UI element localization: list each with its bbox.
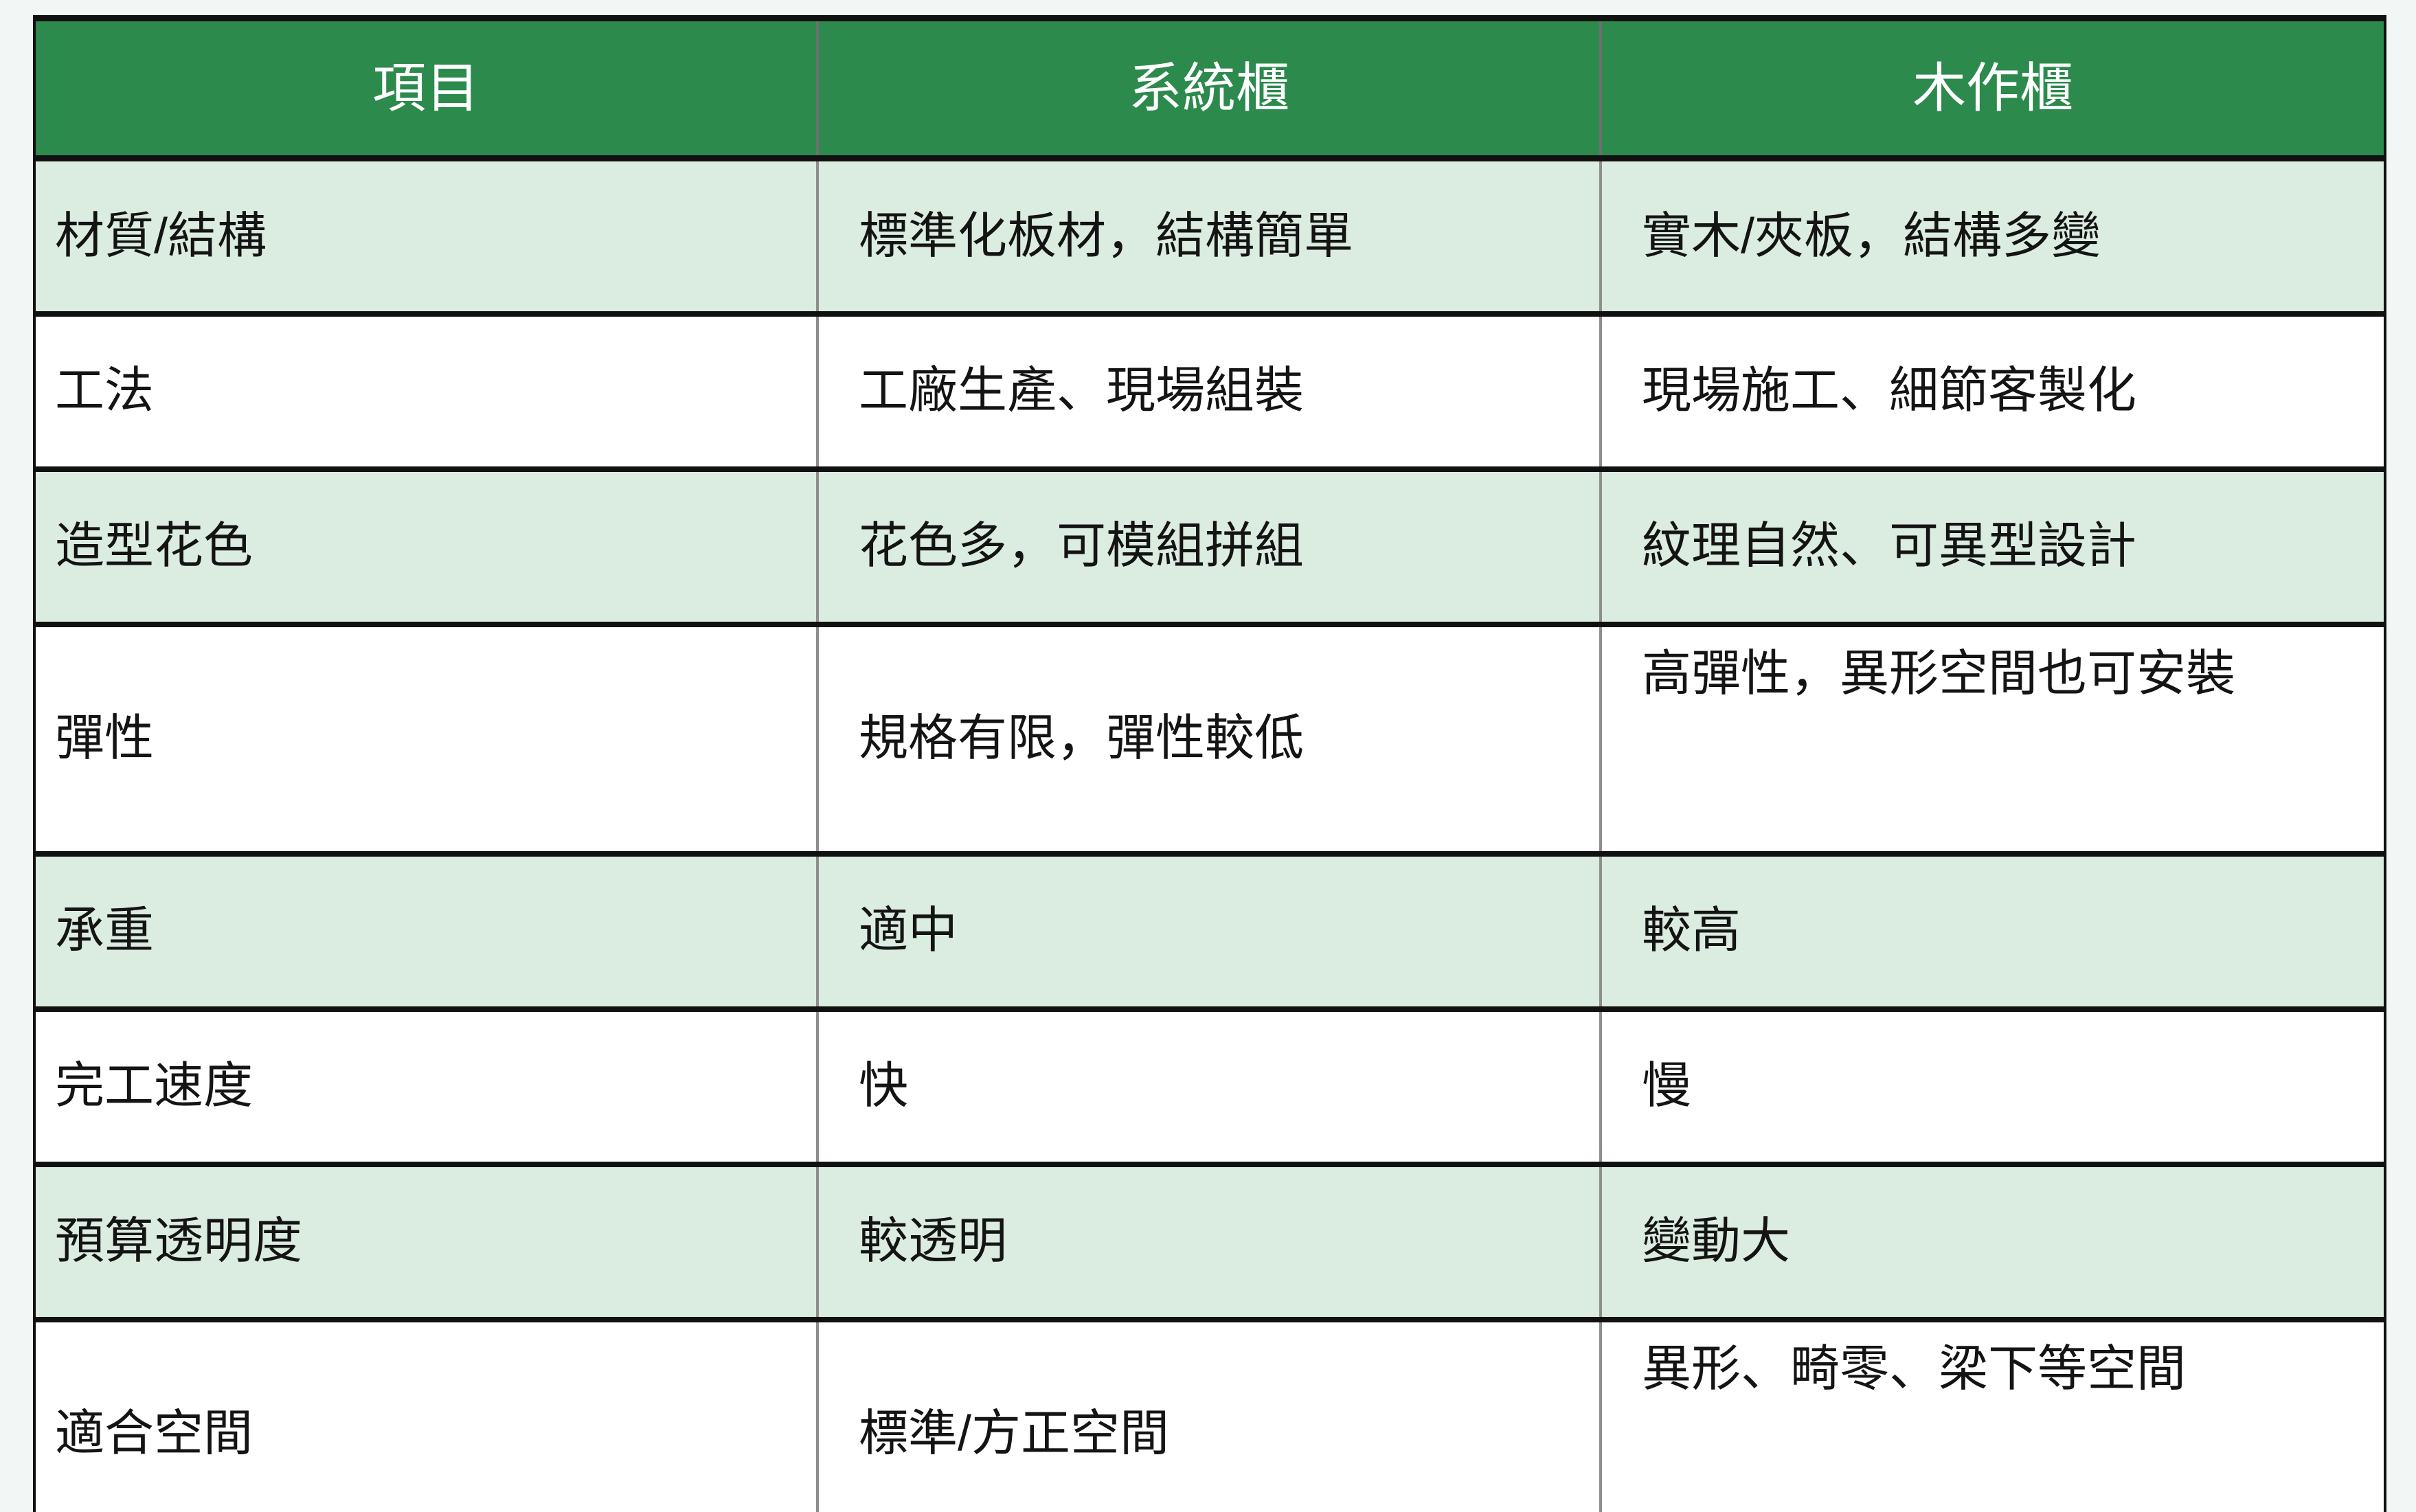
cell-system: 規格有限，彈性較低	[817, 624, 1601, 854]
table-row: 彈性 規格有限，彈性較低 高彈性，異形空間也可安裝	[34, 624, 2385, 854]
table-row: 材質/結構 標準化板材，結構簡單 實木/夾板，結構多變	[34, 159, 2385, 314]
cell-system: 快	[817, 1009, 1601, 1164]
header-row: 項目 系統櫃 木作櫃	[34, 19, 2385, 159]
column-header-wood: 木作櫃	[1601, 19, 2385, 159]
cell-system: 標準/方正空間	[817, 1320, 1601, 1512]
cell-item: 材質/結構	[34, 159, 817, 314]
cell-wood: 較高	[1601, 854, 2385, 1009]
cell-system: 花色多，可模組拼組	[817, 469, 1601, 624]
column-header-item: 項目	[34, 19, 817, 159]
table-header: 項目 系統櫃 木作櫃	[34, 19, 2385, 159]
table-row: 預算透明度 較透明 變動大	[34, 1164, 2385, 1320]
cell-system: 適中	[817, 854, 1601, 1009]
cell-item: 造型花色	[34, 469, 817, 624]
cell-item: 工法	[34, 314, 817, 469]
cell-item: 預算透明度	[34, 1164, 817, 1320]
comparison-table-container: 項目 系統櫃 木作櫃 材質/結構 標準化板材，結構簡單 實木/夾板，結構多變 工…	[33, 15, 2384, 1512]
cell-item: 適合空間	[34, 1320, 817, 1512]
table-body: 材質/結構 標準化板材，結構簡單 實木/夾板，結構多變 工法 工廠生產、現場組裝…	[34, 159, 2385, 1512]
table-row: 承重 適中 較高	[34, 854, 2385, 1009]
table-row: 適合空間 標準/方正空間 異形、畸零、梁下等空間	[34, 1320, 2385, 1512]
cell-system: 較透明	[817, 1164, 1601, 1320]
cell-item: 完工速度	[34, 1009, 817, 1164]
cell-wood: 變動大	[1601, 1164, 2385, 1320]
cell-wood: 現場施工、細節客製化	[1601, 314, 2385, 469]
cell-wood: 慢	[1601, 1009, 2385, 1164]
cell-wood: 高彈性，異形空間也可安裝	[1601, 624, 2385, 854]
page-root: 項目 系統櫃 木作櫃 材質/結構 標準化板材，結構簡單 實木/夾板，結構多變 工…	[0, 0, 2416, 1512]
table-row: 完工速度 快 慢	[34, 1009, 2385, 1164]
cell-wood: 實木/夾板，結構多變	[1601, 159, 2385, 314]
cell-wood: 異形、畸零、梁下等空間	[1601, 1320, 2385, 1512]
cell-system: 標準化板材，結構簡單	[817, 159, 1601, 314]
cell-system: 工廠生產、現場組裝	[817, 314, 1601, 469]
cell-item: 彈性	[34, 624, 817, 854]
cell-item: 承重	[34, 854, 817, 1009]
cell-wood: 紋理自然、可異型設計	[1601, 469, 2385, 624]
table-row: 造型花色 花色多，可模組拼組 紋理自然、可異型設計	[34, 469, 2385, 624]
column-header-system: 系統櫃	[817, 19, 1601, 159]
table-row: 工法 工廠生產、現場組裝 現場施工、細節客製化	[34, 314, 2385, 469]
comparison-table: 項目 系統櫃 木作櫃 材質/結構 標準化板材，結構簡單 實木/夾板，結構多變 工…	[33, 15, 2386, 1512]
